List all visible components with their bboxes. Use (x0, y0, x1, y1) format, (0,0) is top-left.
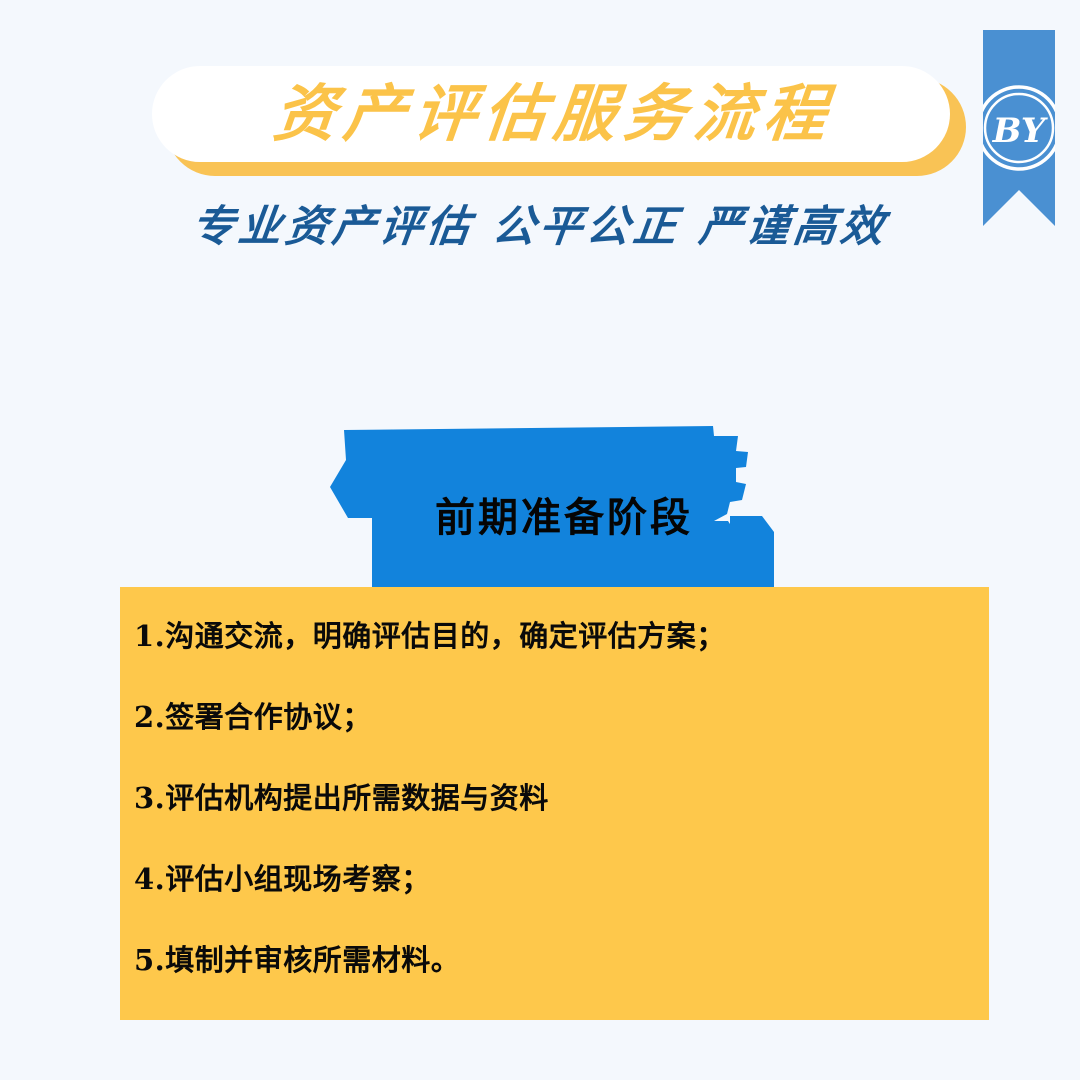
poster-canvas: 资产评估服务流程 专业资产评估 公平公正 严谨高效 BY 前期准备阶段 1.沟通… (0, 0, 1080, 1080)
title-banner: 资产评估服务流程 (152, 66, 952, 166)
list-item: 2.签署合作协议； (134, 702, 959, 734)
steps-list: 1.沟通交流，明确评估目的，确定评估方案； 2.签署合作协议； 3.评估机构提出… (134, 621, 959, 976)
page-title: 资产评估服务流程 (265, 83, 838, 145)
page-subtitle: 专业资产评估 公平公正 严谨高效 (0, 192, 1080, 254)
steps-panel: 1.沟通交流，明确评估目的，确定评估方案； 2.签署合作协议； 3.评估机构提出… (120, 587, 989, 1020)
title-banner-pill: 资产评估服务流程 (152, 66, 950, 162)
stage-banner-shape (318, 424, 792, 590)
list-item: 3.评估机构提出所需数据与资料 (134, 783, 959, 815)
torn-banner-path (330, 426, 774, 590)
list-item: 4.评估小组现场考察； (134, 864, 959, 896)
list-item: 5.填制并审核所需材料。 (134, 945, 959, 977)
ribbon-badge: BY (983, 30, 1055, 226)
badge-monogram: BY (992, 111, 1048, 151)
list-item: 1.沟通交流，明确评估目的，确定评估方案； (134, 621, 959, 653)
